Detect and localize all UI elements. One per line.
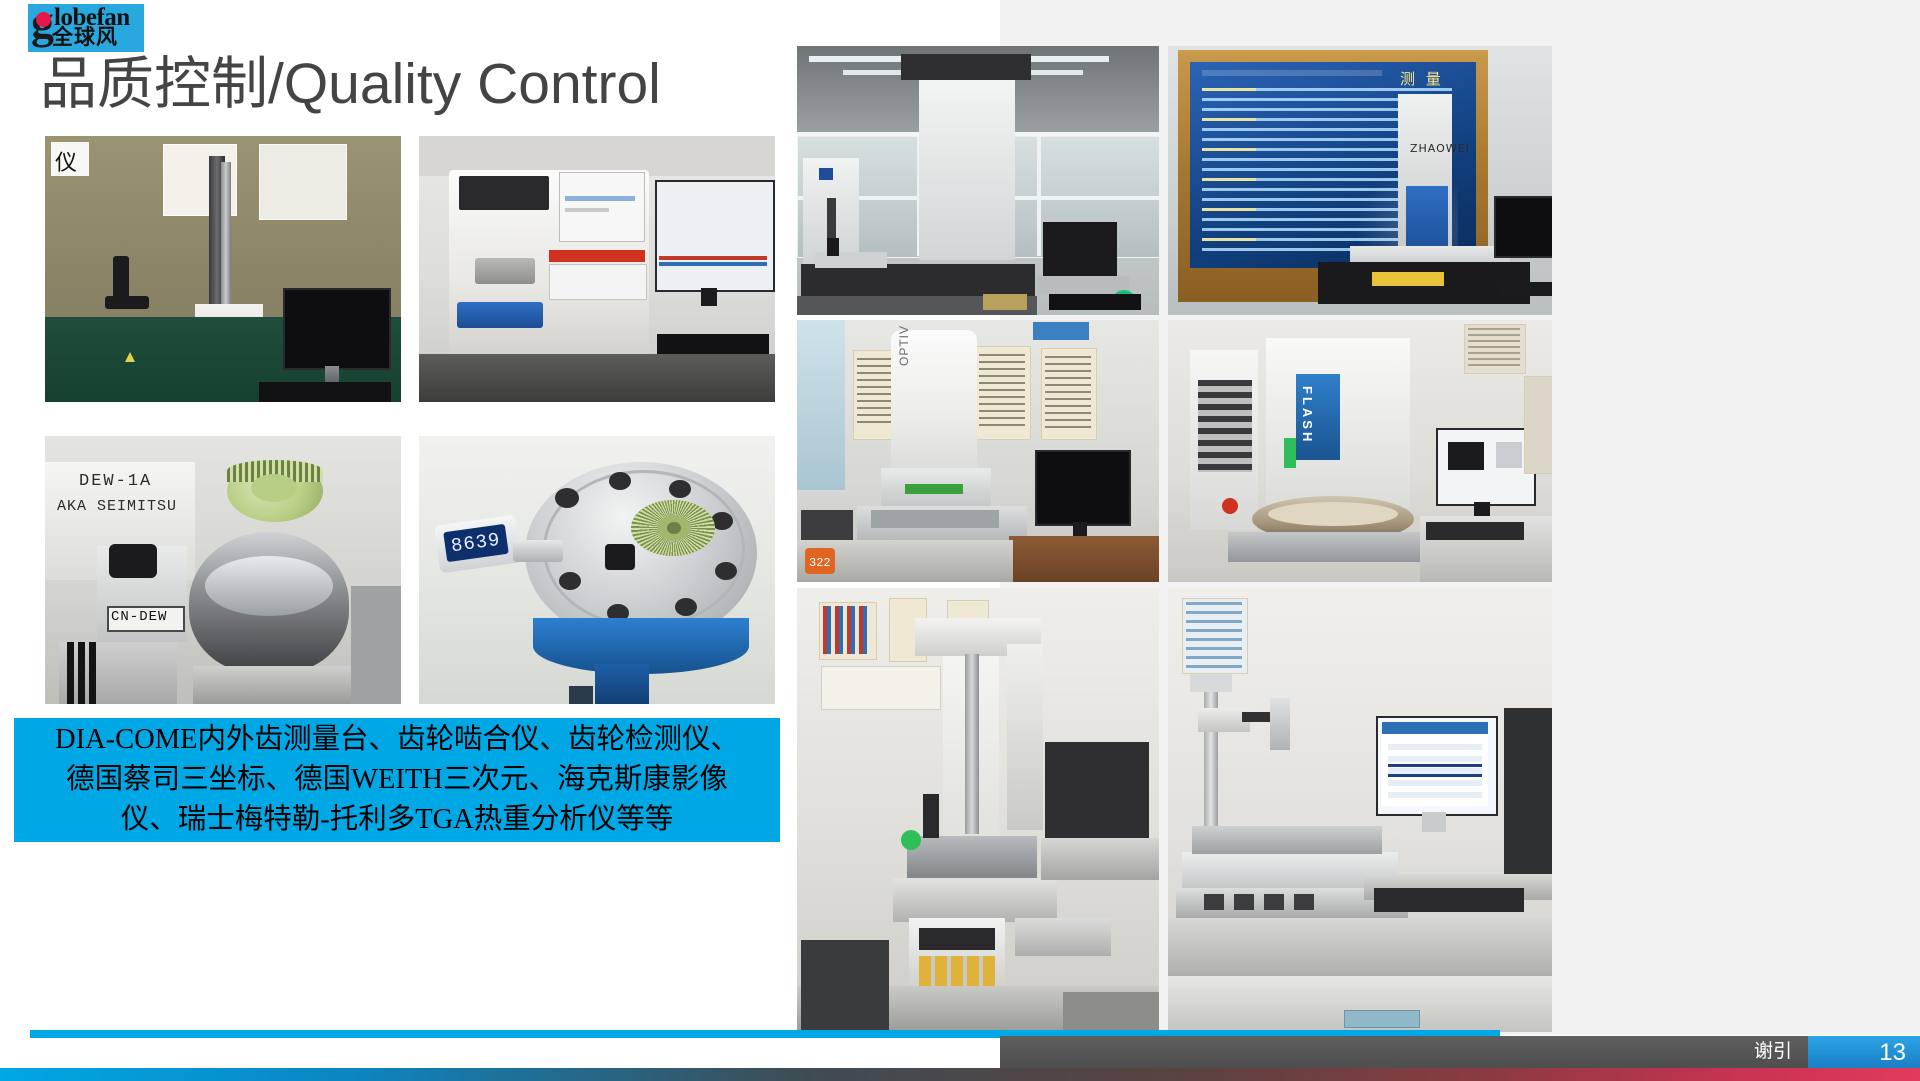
caption-line-1: DIA-COME内外齿测量台、齿轮啮合仪、齿轮检测仪、 [55, 720, 739, 760]
caption-line-2: 德国蔡司三坐标、德国WEITH三次元、海克斯康影像 [55, 760, 739, 800]
photo-label-cn-dew: CN-DEW [111, 609, 167, 625]
photo-label-optiv: OPTIV LITE [897, 320, 911, 366]
photo-roughness-contour-tester [1168, 588, 1552, 1032]
photo-optiv-lite-cmm: OPTIV LITE 322 [797, 320, 1159, 582]
page-title: 品质控制/Quality Control [40, 38, 661, 120]
photo-dew-1a-gear-tester: DEW-1A AKA SEIMITSU CN-DEW [45, 436, 401, 704]
photo-gantry-measuring-machine [797, 588, 1159, 1032]
caption-box: DIA-COME内外齿测量台、齿轮啮合仪、齿轮检测仪、 德国蔡司三坐标、德国WE… [14, 718, 780, 842]
photo-zeiss-cmm-lab [797, 46, 1159, 315]
footer-label: 谢引 [1754, 1040, 1792, 1064]
photo-contour-measuring-machine: 仪 [45, 136, 401, 402]
photo-label-dew1a: DEW-1A [79, 472, 152, 491]
photo-label-zhaowei: ZHAOWEI [1410, 142, 1470, 155]
photo-label-board-title: 测 量 [1400, 68, 1444, 89]
page-number: 13 [1879, 1038, 1906, 1068]
photo-label-gantry-num: 322 [809, 556, 831, 570]
logo-dot-icon [36, 12, 51, 27]
photo-flash-rotary-scanner: FLASH [1168, 320, 1552, 582]
caption-line-3: 仪、瑞士梅特勒-托利多TGA热重分析仪等等 [55, 800, 739, 840]
photo-tga-thermal-analyzer [419, 136, 775, 402]
photo-gear-meshing-tester: 8639 [419, 436, 775, 704]
footer-gradient-strip [0, 1068, 1920, 1081]
photo-label-osaka: AKA SEIMITSU [57, 498, 177, 515]
photo-zhaowei-video-measuring: 测 量 ZHAOWEI [1168, 46, 1552, 315]
photo-label-flash: FLASH [1300, 386, 1315, 444]
slide-canvas: g lobefan 全球风 品质控制/Quality Control 仪 [0, 0, 1920, 1081]
caption-text: DIA-COME内外齿测量台、齿轮啮合仪、齿轮检测仪、 德国蔡司三坐标、德国WE… [49, 720, 745, 840]
